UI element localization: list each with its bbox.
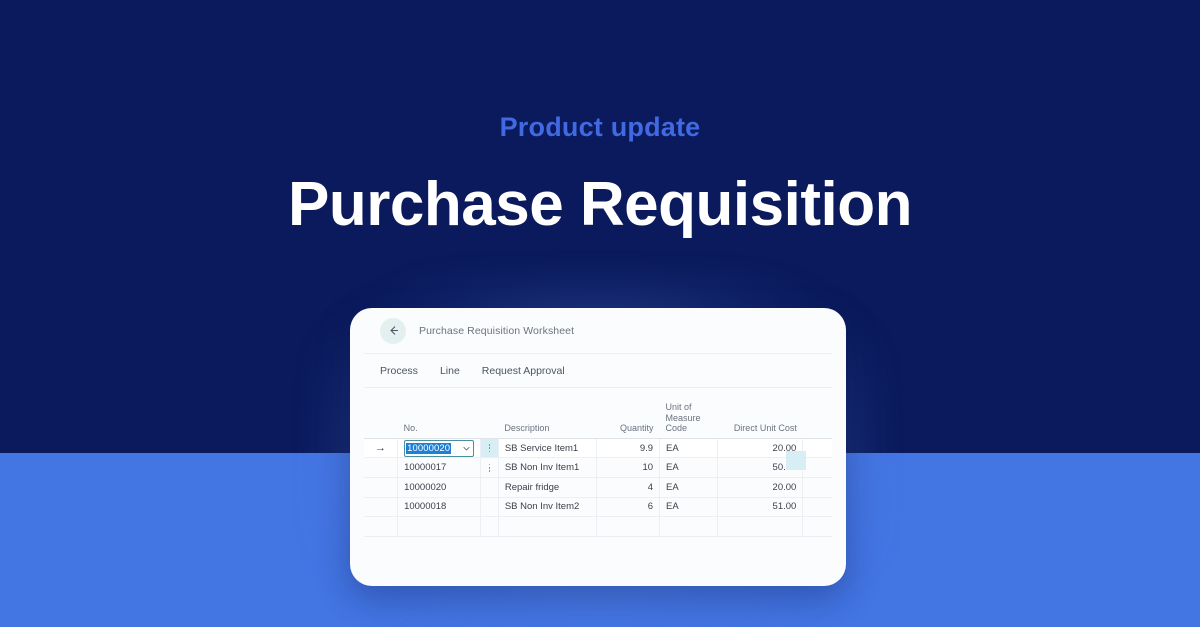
cell-uom[interactable]: EA bbox=[660, 478, 718, 498]
column-header-indicator bbox=[364, 402, 398, 438]
table-row-new[interactable] bbox=[364, 517, 832, 537]
cell-uom[interactable]: EA bbox=[660, 497, 718, 517]
row-indicator-arrow-icon: → bbox=[364, 438, 398, 458]
promo-banner: Product update Purchase Requisition Purc… bbox=[0, 0, 1200, 627]
column-header-description[interactable]: Description bbox=[498, 402, 597, 438]
row-indicator bbox=[364, 478, 398, 498]
app-title: Purchase Requisition Worksheet bbox=[419, 325, 574, 337]
ribbon-item-request-approval[interactable]: Request Approval bbox=[482, 365, 565, 377]
ribbon-item-process[interactable]: Process bbox=[380, 365, 418, 377]
row-menu-placeholder bbox=[480, 478, 498, 498]
cell-description[interactable] bbox=[498, 517, 597, 537]
back-arrow-icon[interactable] bbox=[380, 318, 406, 344]
column-header-tail bbox=[803, 402, 832, 438]
cell-direct-unit-cost[interactable] bbox=[718, 517, 803, 537]
cell-no[interactable]: 10000017 bbox=[398, 458, 481, 478]
cell-direct-unit-cost[interactable]: 51.00 bbox=[718, 497, 803, 517]
table-row[interactable]: 10000017 SB Non Inv Item1 10 EA 50.00 bbox=[364, 458, 832, 478]
cell-description[interactable]: SB Service Item1 bbox=[498, 438, 597, 458]
requisition-lines-table: No. Description Quantity Unit of Measure… bbox=[364, 402, 832, 537]
cell-uom[interactable]: EA bbox=[660, 438, 718, 458]
cell-tail bbox=[803, 438, 832, 458]
cell-tail bbox=[803, 458, 832, 478]
column-header-unit-of-measure-code[interactable]: Unit of Measure Code bbox=[660, 402, 718, 438]
app-ribbon: Process Line Request Approval bbox=[364, 354, 832, 388]
row-menu-button[interactable] bbox=[480, 458, 498, 478]
cell-quantity[interactable]: 10 bbox=[597, 458, 660, 478]
row-menu-placeholder bbox=[480, 517, 498, 537]
row-indicator bbox=[364, 497, 398, 517]
column-header-quantity[interactable]: Quantity bbox=[597, 402, 660, 438]
cell-tail bbox=[803, 478, 832, 498]
cell-tail bbox=[803, 517, 832, 537]
column-header-menu bbox=[480, 402, 498, 438]
cell-quantity[interactable]: 6 bbox=[597, 497, 660, 517]
app-screenshot-card: Purchase Requisition Worksheet Process L… bbox=[350, 308, 846, 586]
cell-description[interactable]: SB Non Inv Item1 bbox=[498, 458, 597, 478]
cell-quantity[interactable]: 4 bbox=[597, 478, 660, 498]
vertical-dots-icon bbox=[487, 439, 492, 458]
row-menu-button[interactable] bbox=[480, 438, 498, 458]
table-row[interactable]: → 10000020 bbox=[364, 438, 832, 458]
cell-uom[interactable] bbox=[660, 517, 718, 537]
row-selection-marker bbox=[786, 451, 806, 470]
no-dropdown-field[interactable]: 10000020 bbox=[404, 440, 474, 457]
cell-description[interactable]: Repair fridge bbox=[498, 478, 597, 498]
hero-text-block: Product update Purchase Requisition bbox=[0, 0, 1200, 240]
cell-uom[interactable]: EA bbox=[660, 458, 718, 478]
row-indicator bbox=[364, 458, 398, 478]
cell-quantity[interactable] bbox=[597, 517, 660, 537]
ribbon-item-line[interactable]: Line bbox=[440, 365, 460, 377]
cell-quantity[interactable]: 9.9 bbox=[597, 438, 660, 458]
cell-no[interactable]: 10000020 bbox=[398, 438, 481, 458]
eyebrow-label: Product update bbox=[0, 112, 1200, 143]
cell-tail bbox=[803, 497, 832, 517]
uom-header-line2: Measure Code bbox=[666, 413, 701, 434]
cell-no[interactable]: 10000020 bbox=[398, 478, 481, 498]
cell-no[interactable]: 10000018 bbox=[398, 497, 481, 517]
table-row[interactable]: 10000020 Repair fridge 4 EA 20.00 bbox=[364, 478, 832, 498]
cell-direct-unit-cost[interactable]: 20.00 bbox=[718, 478, 803, 498]
column-header-no[interactable]: No. bbox=[398, 402, 481, 438]
cell-description[interactable]: SB Non Inv Item2 bbox=[498, 497, 597, 517]
uom-header-line1: Unit of bbox=[666, 402, 692, 412]
row-indicator bbox=[364, 517, 398, 537]
table-row[interactable]: 10000018 SB Non Inv Item2 6 EA 51.00 bbox=[364, 497, 832, 517]
vertical-dots-icon bbox=[487, 458, 492, 477]
chevron-down-icon bbox=[462, 444, 471, 453]
row-menu-placeholder bbox=[480, 497, 498, 517]
no-field-value: 10000020 bbox=[406, 443, 451, 454]
column-header-direct-unit-cost[interactable]: Direct Unit Cost bbox=[718, 402, 803, 438]
app-titlebar: Purchase Requisition Worksheet bbox=[364, 308, 832, 354]
table-header-row: No. Description Quantity Unit of Measure… bbox=[364, 402, 832, 438]
page-title: Purchase Requisition bbox=[0, 169, 1200, 240]
grid-container: No. Description Quantity Unit of Measure… bbox=[364, 402, 832, 537]
cell-no[interactable] bbox=[398, 517, 481, 537]
